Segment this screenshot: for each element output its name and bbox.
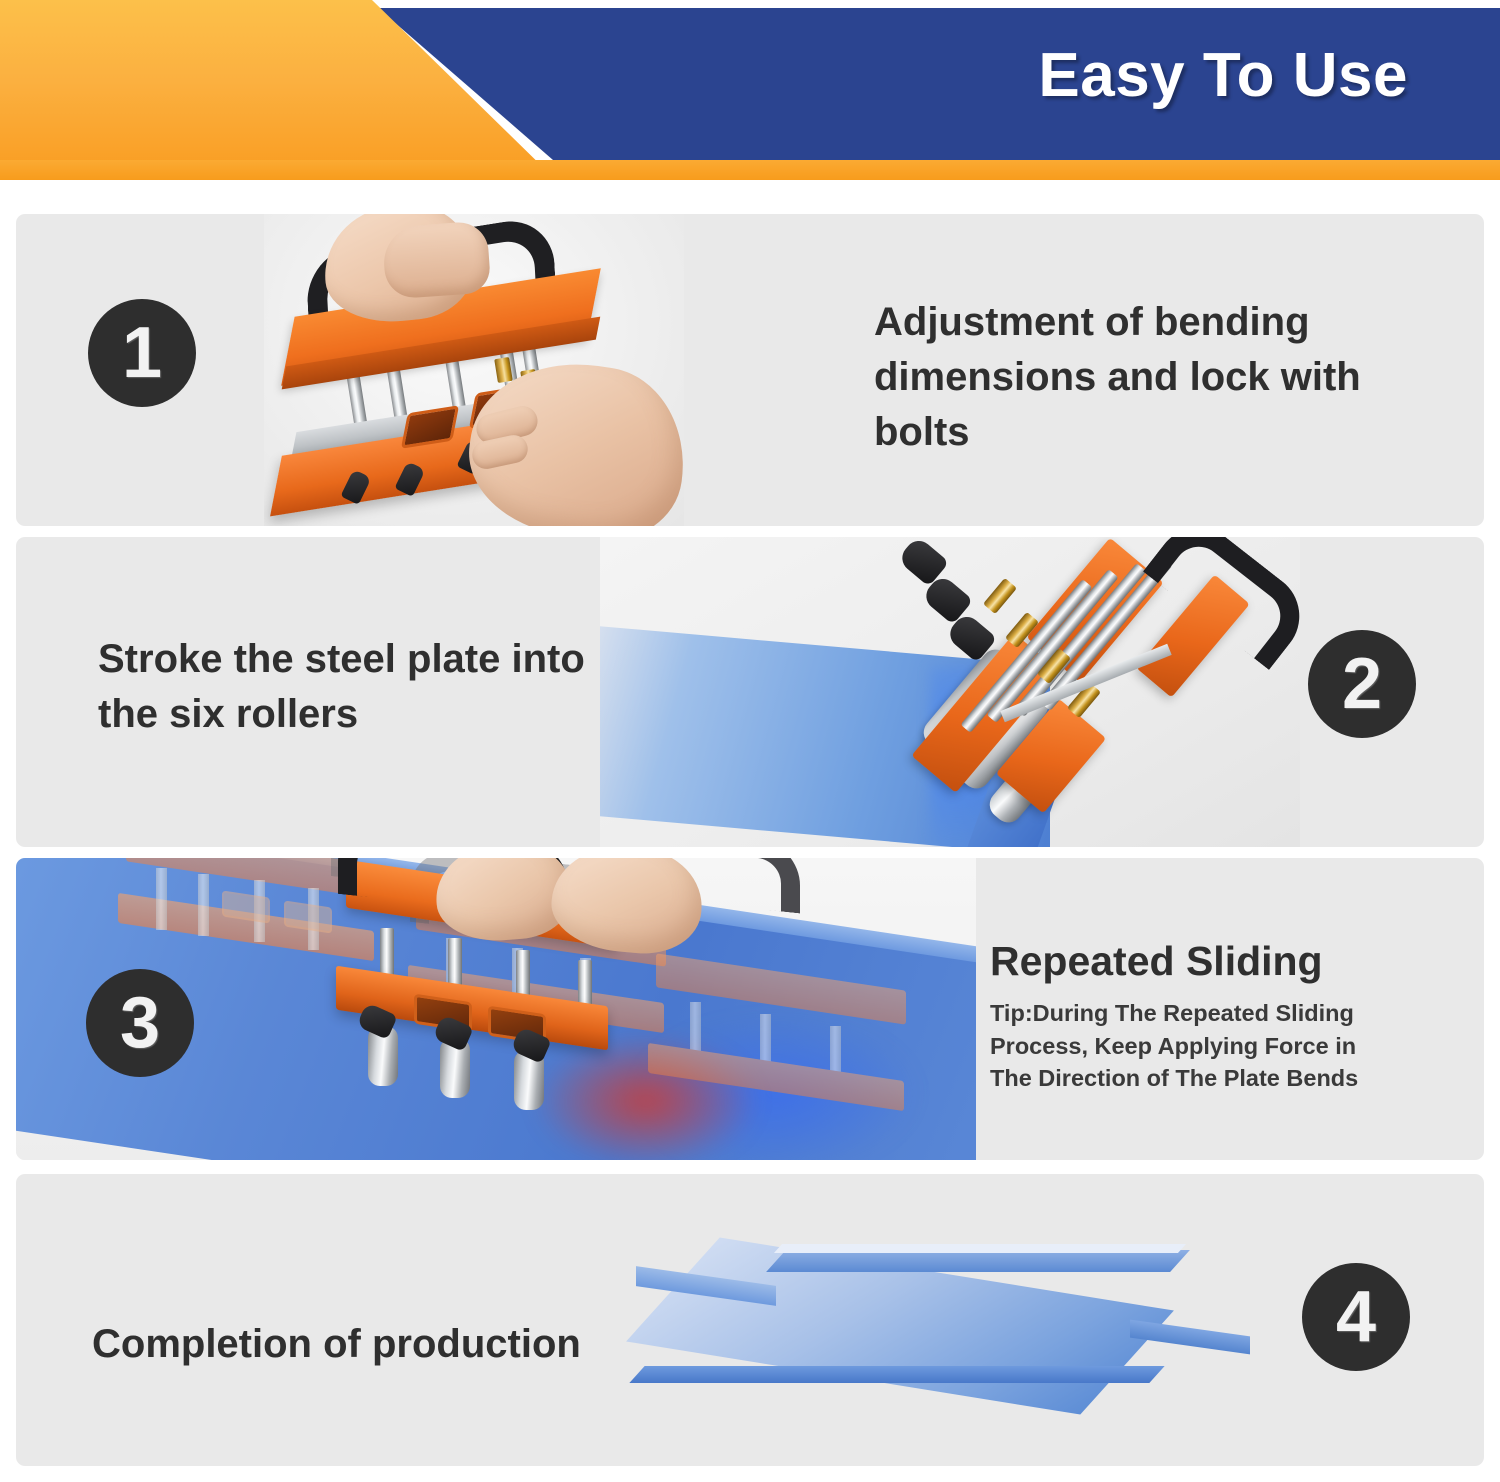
step-1-text: Adjustment of bending dimensions and loc… bbox=[874, 295, 1394, 461]
step-4-text: Completion of production bbox=[92, 1318, 692, 1370]
bent-plate-flange-top-edge bbox=[774, 1244, 1186, 1253]
hand-upper-fingers bbox=[382, 220, 492, 299]
step-number-badge-3: 3 bbox=[86, 969, 194, 1077]
banner-orange-underline bbox=[0, 160, 1500, 180]
step-2-product-image bbox=[600, 537, 1300, 847]
step-2-text: Stroke the steel plate into the six roll… bbox=[98, 632, 618, 742]
step-3-tip-line-2: Process, Keep Applying Force in bbox=[990, 1030, 1430, 1062]
step-number-badge-2: 2 bbox=[1308, 630, 1416, 738]
step-3-text: Repeated Sliding Tip:During The Repeated… bbox=[990, 938, 1430, 1094]
bent-plate-right-edge bbox=[1130, 1320, 1250, 1355]
step-4-product-image bbox=[610, 1230, 1270, 1430]
bent-plate-flange bbox=[766, 1250, 1190, 1272]
page-title: Easy To Use bbox=[1038, 40, 1408, 111]
step-number-badge-4: 4 bbox=[1302, 1263, 1410, 1371]
step-3-tip-line-1: Tip:During The Repeated Sliding bbox=[990, 997, 1430, 1029]
step-3-title: Repeated Sliding bbox=[990, 938, 1430, 985]
step-number-badge-1: 1 bbox=[88, 299, 196, 407]
step-3-tip-line-3: The Direction of The Plate Bends bbox=[990, 1062, 1430, 1094]
step-1-product-image bbox=[264, 214, 684, 526]
bent-plate-front-edge bbox=[629, 1366, 1164, 1383]
header-banner: Easy To Use bbox=[0, 0, 1500, 190]
